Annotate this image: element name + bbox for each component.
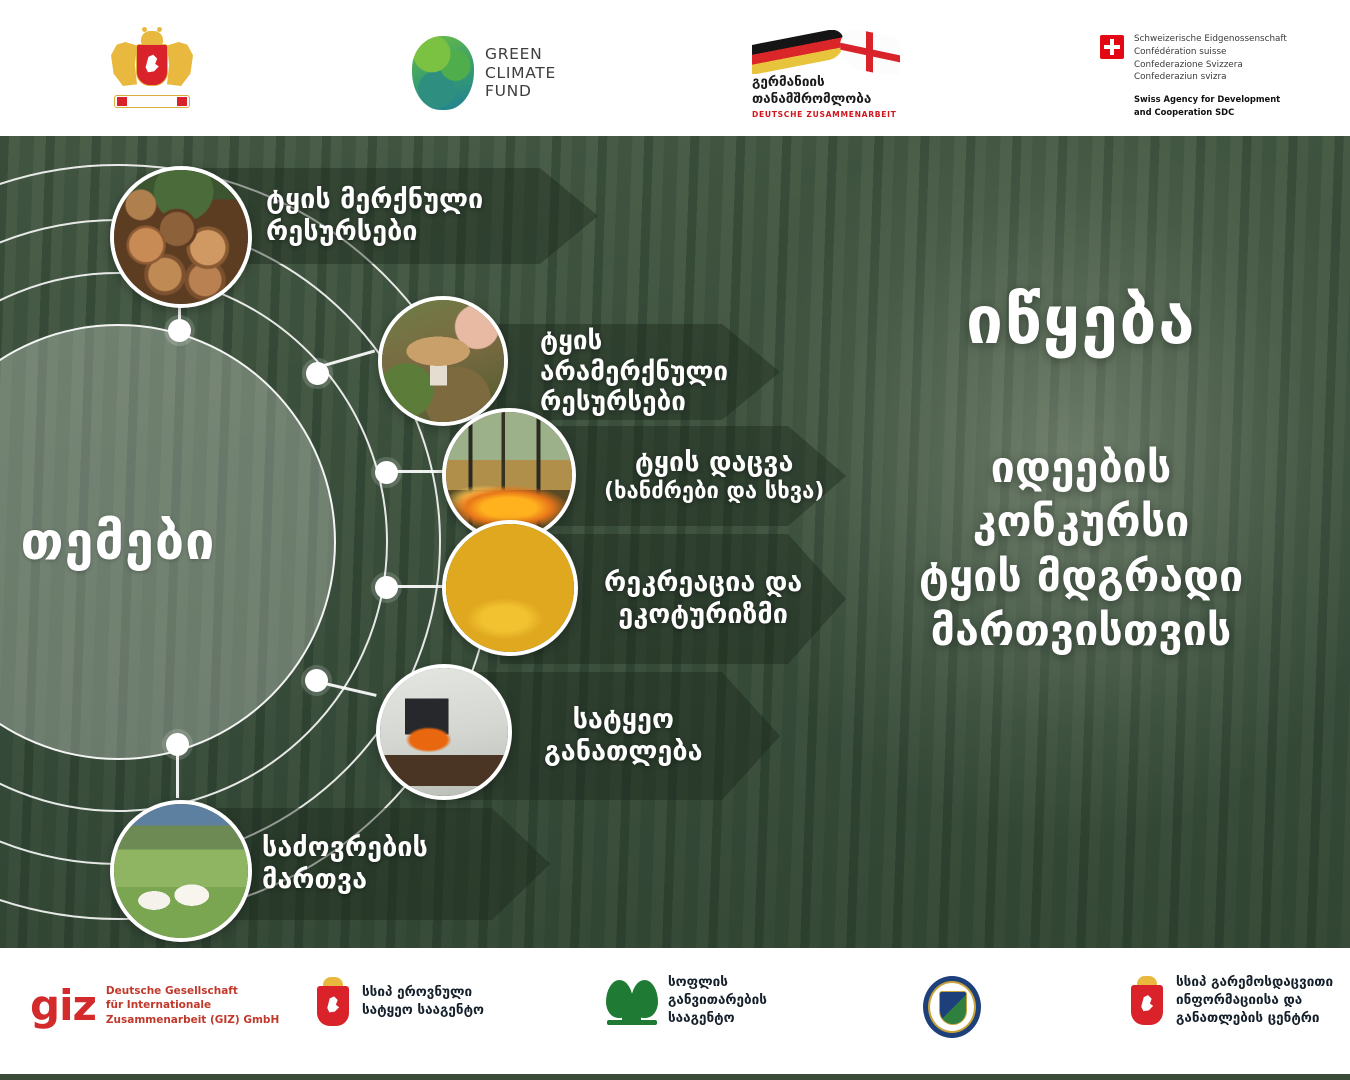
rda-line-2: განვითარების — [668, 992, 767, 1010]
deu-ka-line-1: გერმანიის — [752, 74, 902, 91]
connector-dot-3 — [375, 461, 398, 484]
nfa-line-2: სატყეო სააგენტო — [362, 1002, 484, 1020]
topic-label-5-line-2: განათლება — [544, 736, 703, 767]
topic-label-3-line-2: (ხანძრები და სხვა) — [604, 479, 824, 505]
connector-dot-1 — [168, 319, 191, 342]
nfa-line-1: სსიპ ეროვნული — [362, 984, 484, 1002]
sdc-line-4: Confederaziun svizra — [1134, 71, 1287, 84]
two-trees-house-icon — [606, 977, 658, 1025]
subheadline-line-3: ტყის მდგრადი — [919, 552, 1243, 602]
topic-label-6-line-1: საძოვრების — [262, 832, 428, 863]
ministry-seal-icon — [923, 976, 981, 1038]
giz-logo: giz Deutsche Gesellschaft für Internatio… — [30, 984, 279, 1027]
chainsaw-photo — [380, 668, 508, 796]
topic-label-2-line-1: ტყის არამერქნული — [540, 326, 728, 387]
topic-bar-1[interactable]: ტყის მერქნული რესურსები — [198, 168, 598, 264]
topic-label-6-line-2: მართვა — [262, 864, 367, 895]
gcf-globe-icon — [412, 36, 474, 110]
headline: იწყება — [846, 286, 1316, 355]
gcf-line-3: FUND — [485, 82, 556, 101]
subheadline-line-2: კონკურსი — [973, 497, 1190, 547]
topic-label-2: ტყის არამერქნული რესურსები — [540, 326, 780, 418]
topic-photo-6[interactable] — [110, 800, 252, 942]
georgia-coat-of-arms-logo — [108, 28, 196, 110]
topic-label-5-line-1: სატყეო — [573, 704, 674, 735]
swiss-sdc-logo: Schweizerische Eidgenossenschaft Confédé… — [1100, 33, 1287, 118]
connector-dot-5 — [305, 669, 328, 692]
subheadline: იდეების კონკურსი ტყის მდგრადი მართვისთვი… — [846, 441, 1316, 658]
footer-logo-bar: giz Deutsche Gesellschaft für Internatio… — [0, 948, 1350, 1074]
german-cooperation-logo: გერმანიის თანამშრომლობა DEUTSCHE ZUSAMME… — [752, 30, 902, 119]
camping-tent-photo — [446, 524, 574, 652]
german-georgian-flag-icon — [752, 30, 902, 74]
hub-label: თემები — [21, 512, 216, 572]
topic-label-1-line-1: ტყის მერქნული — [266, 184, 483, 215]
eic-line-3: განათლების ცენტრი — [1176, 1010, 1333, 1028]
sdc-line-1: Schweizerische Eidgenossenschaft — [1134, 33, 1287, 46]
topic-photo-2[interactable] — [378, 296, 508, 426]
topic-label-4-line-2: ეკოტურიზმი — [618, 599, 788, 630]
topic-label-6: საძოვრების მართვა — [262, 832, 428, 896]
subheadline-line-4: მართვისთვის — [931, 606, 1232, 656]
national-forestry-agency-logo: სსიპ ეროვნული სატყეო სააგენტო — [314, 976, 484, 1028]
georgia-flag-icon — [840, 30, 900, 74]
lion-right-icon — [167, 42, 193, 86]
sdc-line-3: Confederazione Svizzera — [1134, 59, 1287, 72]
topic-label-4-line-1: რეკრეაცია და — [604, 567, 802, 598]
stacked-logs-photo — [114, 170, 248, 304]
lion-left-icon — [111, 42, 137, 86]
green-climate-fund-logo: GREEN CLIMATE FUND — [412, 36, 556, 110]
sdc-line-2: Confédération suisse — [1134, 46, 1287, 59]
rda-line-1: სოფლის — [668, 974, 767, 992]
rural-development-agency-text: სოფლის განვითარების სააგენტო — [668, 974, 767, 1027]
georgia-coat-of-arms-small-icon — [314, 976, 352, 1028]
topic-photo-4[interactable] — [442, 520, 578, 656]
gcf-line-2: CLIMATE — [485, 64, 556, 83]
motto-ribbon-icon — [114, 95, 190, 108]
giz-line-3: Zusammenarbeit (GIZ) GmbH — [106, 1013, 279, 1027]
gcf-wordmark: GREEN CLIMATE FUND — [485, 45, 556, 102]
german-cooperation-ka-text: გერმანიის თანამშრომლობა — [752, 74, 902, 108]
germany-flag-icon — [752, 30, 844, 74]
connector-dot-6 — [166, 733, 189, 756]
giz-line-1: Deutsche Gesellschaft — [106, 984, 279, 998]
crown-icon — [141, 31, 163, 44]
environmental-info-center-text: სსიპ გარემოსდაცვითი ინფორმაციისა და განა… — [1176, 974, 1333, 1027]
national-forestry-agency-text: სსიპ ეროვნული სატყეო სააგენტო — [362, 984, 484, 1020]
logo-base-bar — [607, 1020, 657, 1025]
topic-label-1-line-2: რესურსები — [266, 216, 418, 247]
german-cooperation-block: გერმანიის თანამშრომლობა DEUTSCHE ZUSAMME… — [752, 30, 902, 119]
swiss-confederation-names: Schweizerische Eidgenossenschaft Confédé… — [1134, 33, 1287, 84]
eic-line-1: სსიპ გარემოსდაცვითი — [1176, 974, 1333, 992]
sdc-bold-line-1: Swiss Agency for Development — [1134, 93, 1287, 106]
topic-photo-1[interactable] — [110, 166, 252, 308]
deutsche-zusammenarbeit-text: DEUTSCHE ZUSAMMENARBEIT — [752, 110, 902, 119]
environmental-info-center-logo: სსიპ გარემოსდაცვითი ინფორმაციისა და განა… — [1128, 974, 1333, 1027]
swiss-agency-title: Swiss Agency for Development and Coopera… — [1134, 93, 1287, 118]
ministry-seal-logo — [923, 976, 981, 1038]
topic-photo-5[interactable] — [376, 664, 512, 800]
topic-label-4: რეკრეაცია და ეკოტურიზმი — [604, 567, 802, 631]
topic-label-3: ტყის დაცვა (ხანძრები და სხვა) — [604, 447, 824, 505]
georgia-coat-of-arms-small-icon-2 — [1128, 975, 1166, 1027]
rural-development-agency-logo: სოფლის განვითარების სააგენტო — [606, 974, 767, 1027]
sheep-pasture-photo — [114, 804, 248, 938]
giz-fulltext: Deutsche Gesellschaft für Internationale… — [106, 984, 279, 1027]
swiss-sdc-text-block: Schweizerische Eidgenossenschaft Confédé… — [1134, 33, 1287, 118]
topic-label-2-line-2: რესურსები — [540, 387, 686, 417]
rda-line-3: სააგენტო — [668, 1010, 767, 1028]
topic-label-1: ტყის მერქნული რესურსები — [266, 184, 483, 248]
subheadline-line-1: იდეების — [991, 443, 1172, 493]
mushroom-photo — [382, 300, 504, 422]
topic-label-3-line-1: ტყის დაცვა — [635, 447, 794, 478]
eic-line-2: ინფორმაციისა და — [1176, 992, 1333, 1010]
giz-wordmark: giz — [30, 985, 96, 1027]
topic-label-5: სატყეო განათლება — [544, 704, 703, 768]
right-title-block: იწყება იდეების კონკურსი ტყის მდგრადი მარ… — [846, 286, 1316, 658]
swiss-flag-icon — [1100, 35, 1124, 59]
georgia-coat-of-arms-icon — [108, 28, 196, 110]
sdc-bold-line-2: and Cooperation SDC — [1134, 106, 1287, 119]
giz-line-2: für Internationale — [106, 998, 279, 1012]
deu-ka-line-2: თანამშრომლობა — [752, 91, 902, 108]
connector-dot-4 — [375, 576, 398, 599]
top-logo-bar: GREEN CLIMATE FUND გერმანიის თანამშრომლო… — [0, 0, 1350, 136]
bottom-accent-strip — [0, 1074, 1350, 1080]
gcf-line-1: GREEN — [485, 45, 556, 64]
connector-dot-2 — [306, 362, 329, 385]
poster-root: GREEN CLIMATE FUND გერმანიის თანამშრომლო… — [0, 0, 1350, 1080]
main-forest-panel: თემები ტყის მერქნული რესურსები ტყის არამ… — [0, 136, 1350, 948]
